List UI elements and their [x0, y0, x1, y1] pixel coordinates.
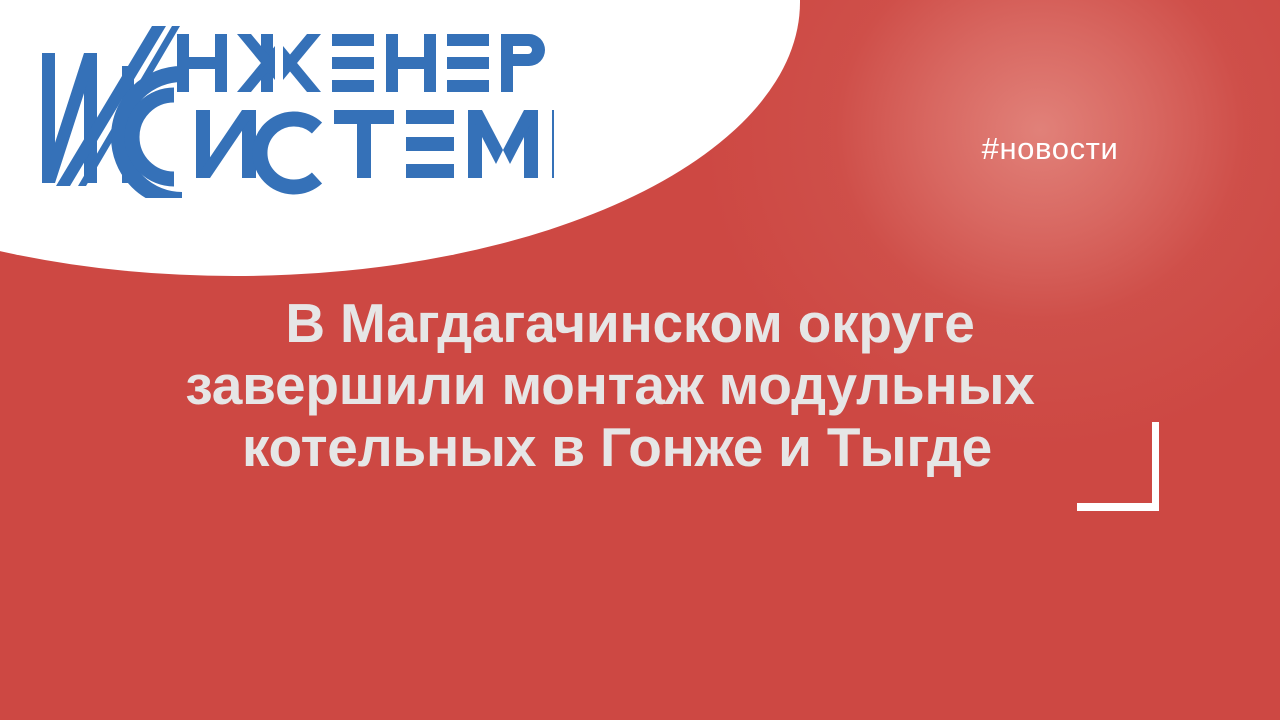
- headline-line-1: В Магдагачинском округе: [60, 292, 1160, 354]
- headline-line-2: завершили монтаж модульных: [60, 354, 1160, 416]
- logo-monogram-c-arcs: [119, 74, 182, 198]
- logo-monogram-is: [42, 26, 180, 186]
- headline: В Магдагачинском округе завершили монтаж…: [60, 292, 1160, 478]
- headline-line-3: котельных в Гонже и Тыгде: [60, 416, 1160, 478]
- logo-wordmark-line1: [177, 34, 554, 92]
- hashtag-label: #новости: [920, 132, 1180, 166]
- logo-wordmark-line2: [196, 110, 554, 187]
- news-slide: #новости В Магдагачинском округе заверши…: [0, 0, 1280, 720]
- company-logo[interactable]: [34, 18, 554, 198]
